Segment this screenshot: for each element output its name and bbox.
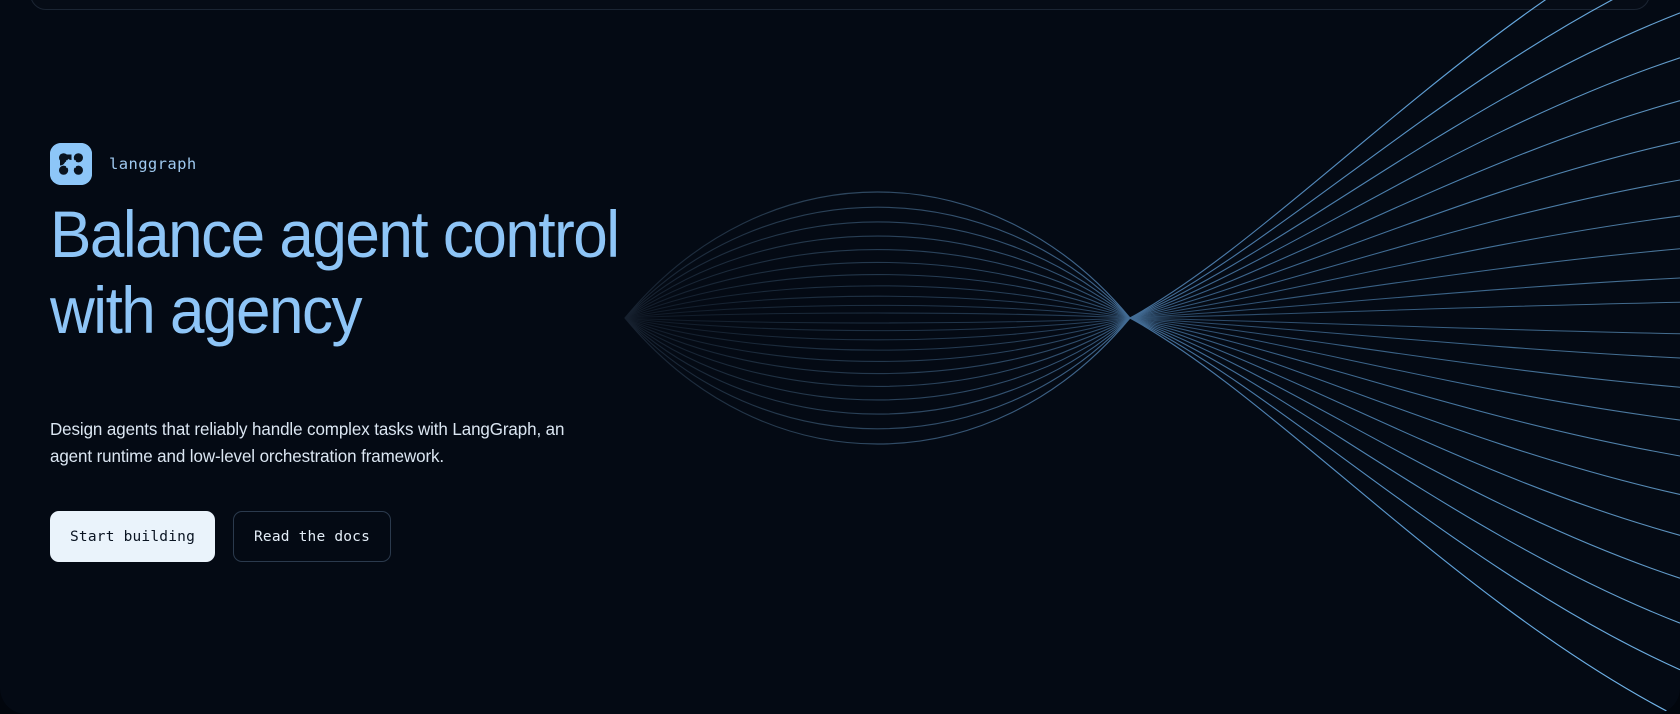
wave-line <box>625 58 1680 400</box>
read-the-docs-button[interactable]: Read the docs <box>233 511 391 562</box>
converging-wave-graphic <box>590 0 1680 714</box>
wave-line <box>625 207 1680 669</box>
start-building-button[interactable]: Start building <box>50 511 215 562</box>
brand-lockup: langgraph <box>50 143 197 185</box>
brand-name: langgraph <box>109 155 197 173</box>
wave-line <box>625 0 1680 444</box>
hero-page: langgraph Balance agent controlwith agen… <box>0 0 1680 714</box>
langgraph-logo-icon <box>50 143 92 185</box>
hero-content: langgraph Balance agent controlwith agen… <box>50 0 750 714</box>
wave-line <box>625 192 1680 714</box>
wave-line <box>625 236 1680 578</box>
hero-description: Design agents that reliably handle compl… <box>50 416 632 469</box>
page-title: Balance agent controlwith agency <box>50 196 670 348</box>
subcopy-line-1: Design agents that reliably handle compl… <box>50 419 564 439</box>
wave-line <box>625 101 1680 387</box>
headline-line-2: with agency <box>50 273 361 347</box>
subcopy-line-2: agent runtime and low-level orchestratio… <box>50 446 444 466</box>
cta-button-row: Start building Read the docs <box>50 511 391 562</box>
wave-line <box>625 250 1680 536</box>
headline-line-1: Balance agent control <box>50 197 619 271</box>
